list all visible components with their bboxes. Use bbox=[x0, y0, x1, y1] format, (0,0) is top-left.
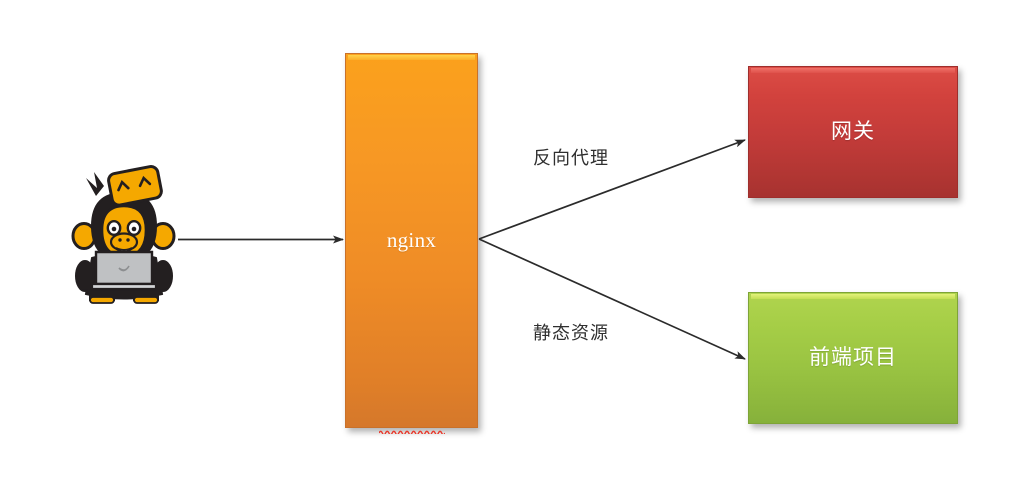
node-frontend-label: 前端项目 bbox=[809, 346, 897, 370]
edge-nginx-to-gateway bbox=[479, 140, 745, 239]
edge-nginx-to-frontend bbox=[479, 239, 745, 359]
node-nginx-label: nginx bbox=[387, 228, 436, 252]
edge-layer bbox=[0, 0, 1024, 479]
node-gateway-label: 网关 bbox=[831, 120, 875, 144]
diagram-canvas: nginx 网关 前端项目 反向代理 静态资源 bbox=[0, 0, 1024, 479]
